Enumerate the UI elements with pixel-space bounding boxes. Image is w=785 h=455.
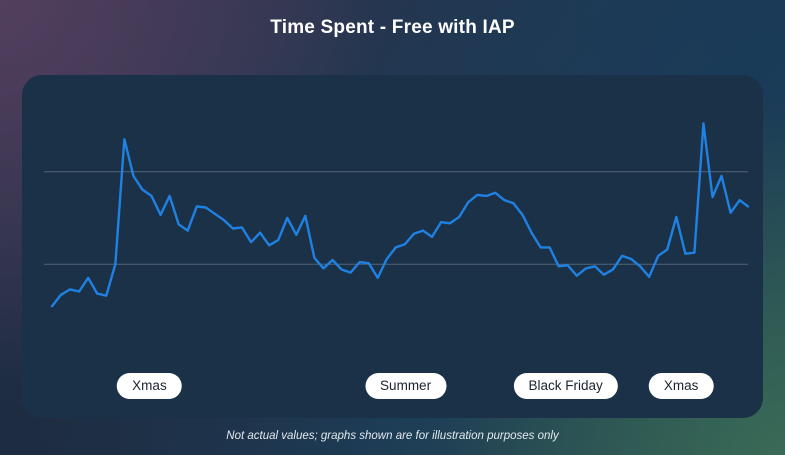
chart-card: XmasSummerBlack FridayXmas <box>22 75 763 418</box>
app-root: Time Spent - Free with IAP XmasSummerBla… <box>0 0 785 455</box>
chart-line-series <box>52 124 748 307</box>
page-title: Time Spent - Free with IAP <box>0 17 785 39</box>
marker-pill-black-friday[interactable]: Black Friday <box>514 373 618 399</box>
marker-pill-summer[interactable]: Summer <box>365 373 446 399</box>
gridlines <box>44 172 748 264</box>
line-chart <box>22 75 763 418</box>
marker-pill-xmas[interactable]: Xmas <box>117 373 182 399</box>
disclaimer-note: Not actual values; graphs shown are for … <box>0 430 785 442</box>
marker-pill-xmas[interactable]: Xmas <box>649 373 714 399</box>
